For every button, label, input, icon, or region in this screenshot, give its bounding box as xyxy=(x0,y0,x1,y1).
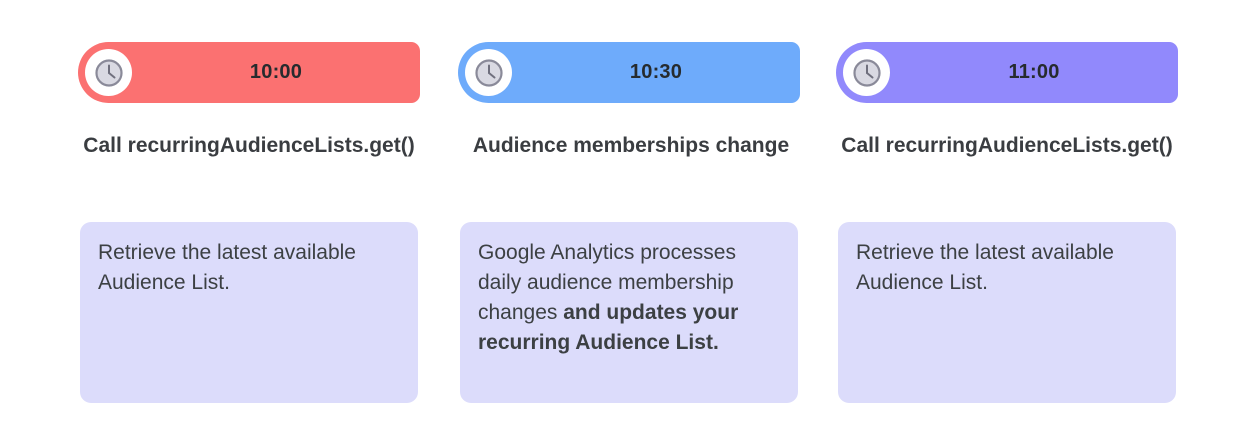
body-segment: Retrieve the latest available Audience L… xyxy=(856,241,1114,294)
time-pill-3: 11:00 xyxy=(836,42,1178,103)
time-pill-1: 10:00 xyxy=(78,42,420,103)
time-label-2: 10:30 xyxy=(512,42,800,103)
timeline-step-3: 11:00 Call recurringAudienceLists.get() … xyxy=(836,0,1216,441)
timeline-step-1: 10:00 Call recurringAudienceLists.get() … xyxy=(78,0,458,441)
body-segment: Retrieve the latest available Audience L… xyxy=(98,241,356,294)
time-label-3: 11:00 xyxy=(890,42,1178,103)
timeline-step-2: 10:30 Audience memberships change Google… xyxy=(458,0,838,441)
clock-icon xyxy=(465,49,512,96)
step-body-3: Retrieve the latest available Audience L… xyxy=(856,238,1158,298)
time-label-1: 10:00 xyxy=(132,42,420,103)
step-heading-3: Call recurringAudienceLists.get() xyxy=(818,131,1196,160)
clock-icon xyxy=(85,49,132,96)
step-card-1: Retrieve the latest available Audience L… xyxy=(80,222,418,403)
step-card-3: Retrieve the latest available Audience L… xyxy=(838,222,1176,403)
step-heading-2: Audience memberships change xyxy=(466,131,796,160)
clock-icon xyxy=(843,49,890,96)
step-body-1: Retrieve the latest available Audience L… xyxy=(98,238,400,298)
step-heading-1: Call recurringAudienceLists.get() xyxy=(60,131,438,160)
timeline-diagram: 10:00 Call recurringAudienceLists.get() … xyxy=(0,0,1257,441)
step-body-2: Google Analytics processes daily audienc… xyxy=(478,238,780,358)
step-card-2: Google Analytics processes daily audienc… xyxy=(460,222,798,403)
time-pill-2: 10:30 xyxy=(458,42,800,103)
